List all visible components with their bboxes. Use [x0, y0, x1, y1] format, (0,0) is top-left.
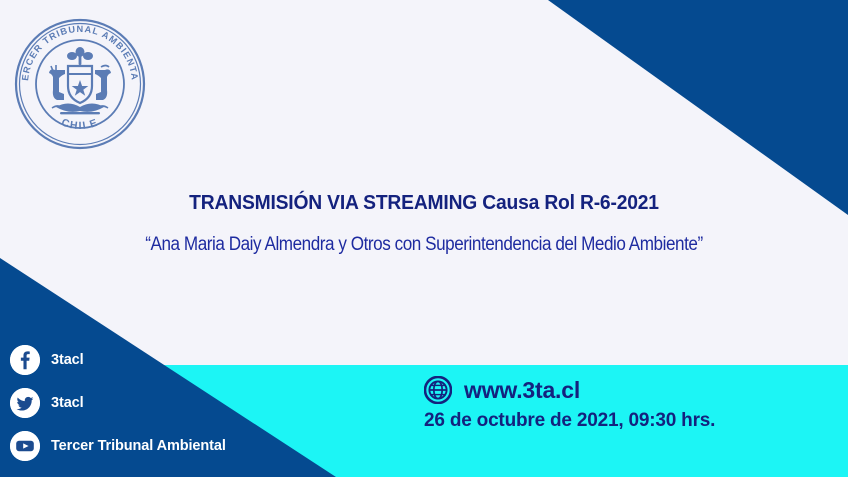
social-link-twitter[interactable]: 3tacl [10, 384, 270, 422]
social-label-youtube: Tercer Tribunal Ambiental [51, 438, 226, 454]
social-label-twitter: 3tacl [51, 395, 84, 411]
decorative-triangle-top-right [548, 0, 848, 215]
page-subtitle: “Ana Maria Daiy Almendra y Otros con Sup… [42, 233, 805, 258]
website-url[interactable]: www.3ta.cl [464, 377, 580, 404]
institution-logo: TERCER TRIBUNAL AMBIENTAL CHILE [8, 12, 152, 156]
headline-block: TRANSMISIÓN VIA STREAMING Causa Rol R-6-… [0, 190, 848, 257]
event-datetime: 26 de octubre de 2021, 09:30 hrs. [424, 410, 824, 432]
website-row[interactable]: www.3ta.cl [424, 376, 824, 404]
facebook-icon [10, 345, 40, 375]
social-link-facebook[interactable]: 3tacl [10, 341, 270, 379]
coat-of-arms-emblem [49, 47, 111, 114]
globe-icon [424, 376, 452, 404]
social-links-list: 3tacl 3tacl Tercer Tribunal Ambiental [10, 341, 270, 470]
web-info-block: www.3ta.cl 26 de octubre de 2021, 09:30 … [424, 376, 824, 432]
twitter-icon [10, 388, 40, 418]
social-link-youtube[interactable]: Tercer Tribunal Ambiental [10, 427, 270, 465]
youtube-icon [10, 431, 40, 461]
page-title: TRANSMISIÓN VIA STREAMING Causa Rol R-6-… [25, 190, 822, 216]
slide-canvas: TERCER TRIBUNAL AMBIENTAL CHILE [0, 0, 848, 477]
logo-arc-bottom-text: CHILE [60, 116, 100, 132]
social-label-facebook: 3tacl [51, 352, 84, 368]
svg-text:CHILE: CHILE [60, 116, 100, 132]
